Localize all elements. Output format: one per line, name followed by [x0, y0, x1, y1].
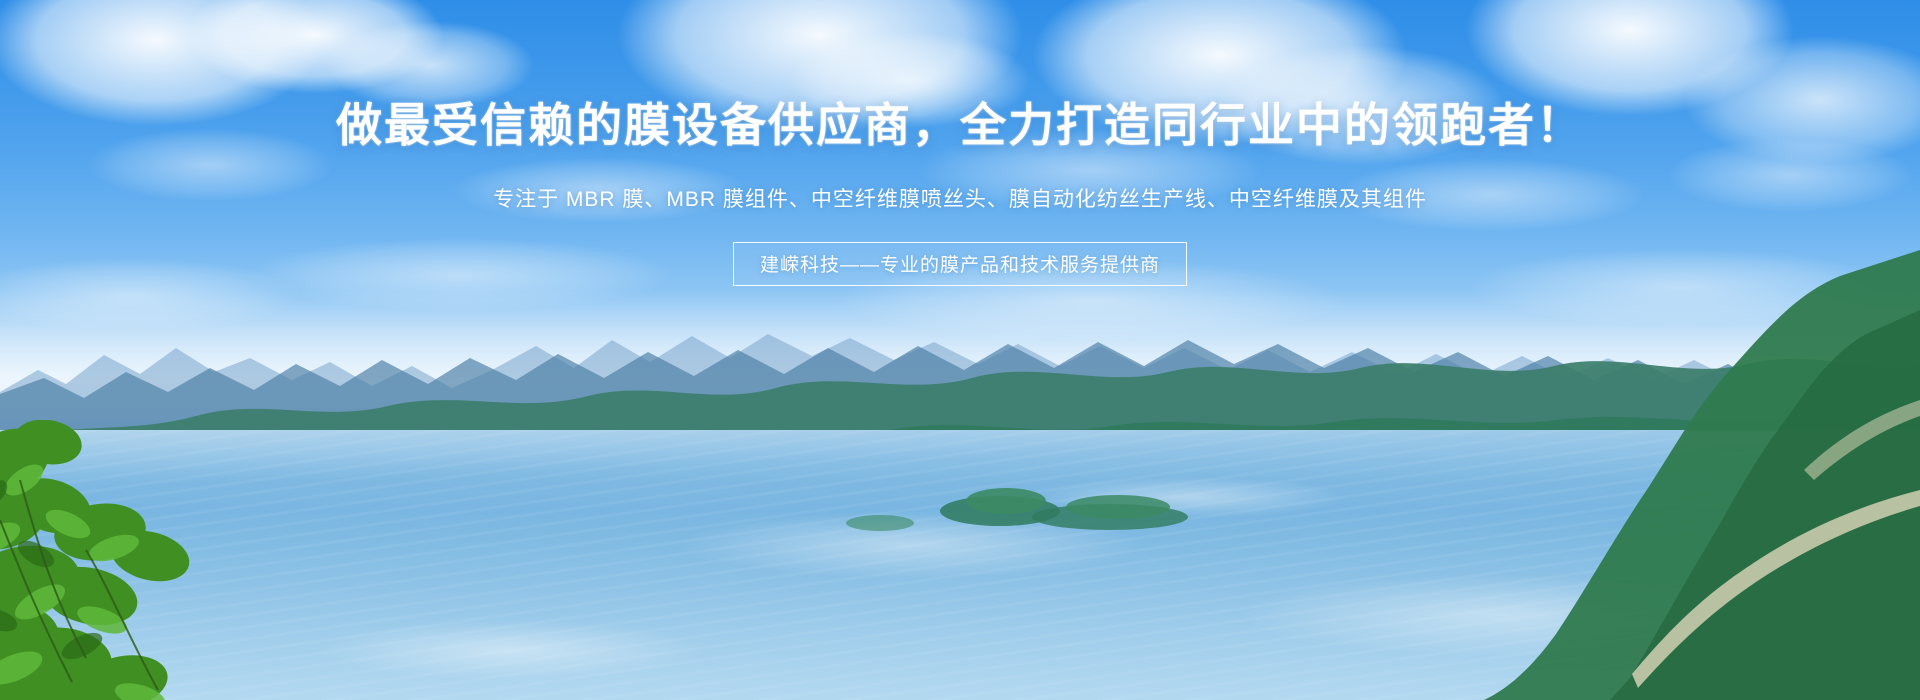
- lake-water: [0, 430, 1920, 700]
- banner-text-overlay: 做最受信赖的膜设备供应商，全力打造同行业中的领跑者！ 专注于 MBR 膜、MBR…: [0, 0, 1920, 286]
- banner-subheadline: 专注于 MBR 膜、MBR 膜组件、中空纤维膜喷丝头、膜自动化纺丝生产线、中空纤…: [0, 151, 1920, 214]
- banner-tagline-container: 建嵘科技——专业的膜产品和技术服务提供商: [0, 242, 1920, 286]
- hero-banner: 做最受信赖的膜设备供应商，全力打造同行业中的领跑者！ 专注于 MBR 膜、MBR…: [0, 0, 1920, 700]
- banner-tagline-box: 建嵘科技——专业的膜产品和技术服务提供商: [733, 242, 1187, 286]
- banner-headline: 做最受信赖的膜设备供应商，全力打造同行业中的领跑者！: [0, 0, 1920, 151]
